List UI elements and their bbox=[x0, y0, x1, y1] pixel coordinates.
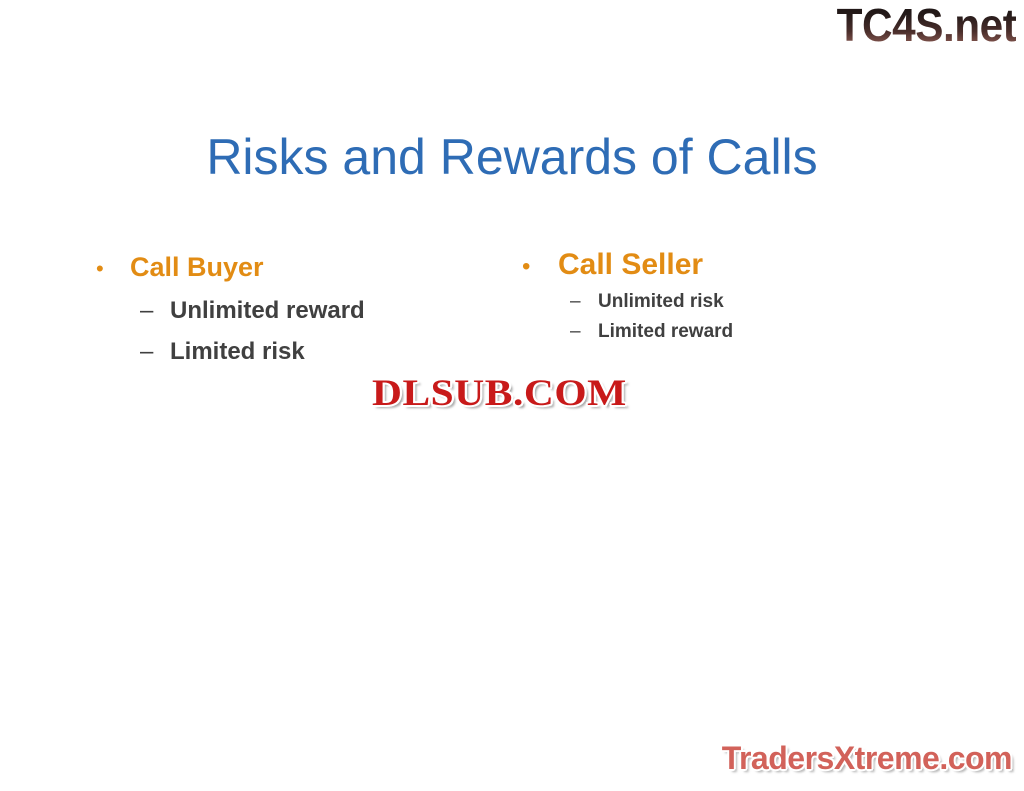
column-heading-label: Call Buyer bbox=[130, 252, 264, 283]
list-item-label: Unlimited risk bbox=[598, 291, 724, 313]
bullet-heading-call-buyer: • Call Buyer bbox=[96, 252, 516, 283]
slide-canvas: TC4S.net Risks and Rewards of Calls • Ca… bbox=[0, 0, 1024, 791]
list-item: – Limited reward bbox=[570, 321, 952, 343]
column-heading-label: Call Seller bbox=[558, 248, 703, 282]
column-call-buyer: • Call Buyer – Unlimited reward – Limite… bbox=[96, 252, 516, 379]
dash-marker-icon: – bbox=[570, 291, 598, 313]
list-item-label: Limited risk bbox=[170, 338, 305, 366]
tc4s-brand-logo: TC4S.net bbox=[836, 0, 1016, 52]
dlsub-watermark: DLSUB.COM bbox=[372, 372, 627, 415]
page-title: Risks and Rewards of Calls bbox=[0, 128, 1024, 186]
dash-marker-icon: – bbox=[570, 321, 598, 343]
list-item-label: Unlimited reward bbox=[170, 297, 365, 325]
list-item: – Limited risk bbox=[140, 338, 516, 366]
dash-marker-icon: – bbox=[140, 338, 170, 366]
tradersxtreme-watermark: TradersXtreme.com bbox=[722, 740, 1012, 777]
bullet-dot-icon: • bbox=[96, 258, 130, 280]
dash-marker-icon: – bbox=[140, 297, 170, 325]
bullet-dot-icon: • bbox=[522, 255, 558, 279]
list-item: – Unlimited reward bbox=[140, 297, 516, 325]
list-item: – Unlimited risk bbox=[570, 291, 952, 313]
bullet-heading-call-seller: • Call Seller bbox=[522, 248, 952, 282]
list-item-label: Limited reward bbox=[598, 321, 733, 343]
column-call-seller: • Call Seller – Unlimited risk – Limited… bbox=[522, 248, 952, 351]
